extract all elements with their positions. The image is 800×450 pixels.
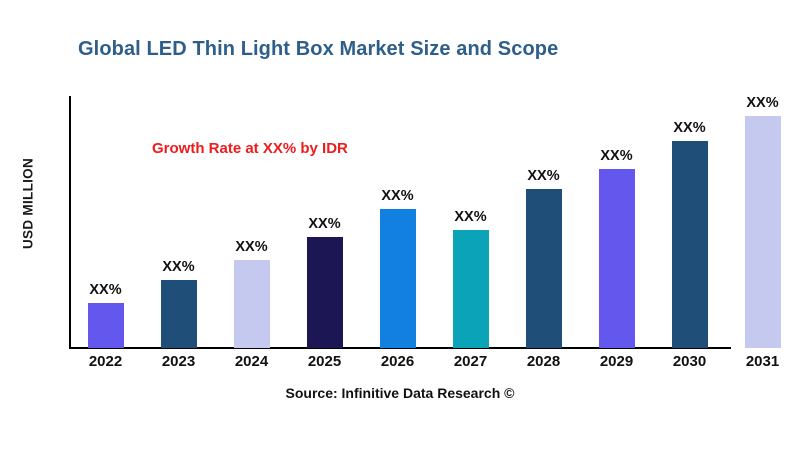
x-tick-2022: 2022 <box>69 353 142 370</box>
bar-2026[interactable] <box>380 209 416 348</box>
bar-value-label-2023: XX% <box>162 259 194 275</box>
bar-2024[interactable] <box>234 260 270 348</box>
bar-value-label-2024: XX% <box>235 239 267 255</box>
bar-2029[interactable] <box>599 169 635 348</box>
chart-title: Global LED Thin Light Box Market Size an… <box>78 38 558 61</box>
x-axis-tick-labels: 2022202320242025202620272028202920302031 <box>69 353 800 379</box>
bar-value-label-2026: XX% <box>381 188 413 204</box>
bar-group-2029[interactable]: XX% <box>580 96 653 348</box>
x-tick-2030: 2030 <box>653 353 726 370</box>
y-axis-label: USD MILLION <box>21 114 36 294</box>
bar-2031[interactable] <box>745 116 781 348</box>
x-tick-2028: 2028 <box>507 353 580 370</box>
bar-group-2022[interactable]: XX% <box>69 96 142 348</box>
bar-group-2030[interactable]: XX% <box>653 96 726 348</box>
bar-value-label-2028: XX% <box>527 168 559 184</box>
bar-2025[interactable] <box>307 237 343 348</box>
growth-rate-annotation: Growth Rate at XX% by IDR <box>152 140 348 157</box>
x-tick-2023: 2023 <box>142 353 215 370</box>
bar-2027[interactable] <box>453 230 489 348</box>
bar-group-2023[interactable]: XX% <box>142 96 215 348</box>
bar-group-2027[interactable]: XX% <box>434 96 507 348</box>
bar-value-label-2030: XX% <box>673 120 705 136</box>
x-tick-2029: 2029 <box>580 353 653 370</box>
chart-container: Global LED Thin Light Box Market Size an… <box>0 0 800 450</box>
bar-group-2028[interactable]: XX% <box>507 96 580 348</box>
bar-2028[interactable] <box>526 189 562 348</box>
bar-group-2025[interactable]: XX% <box>288 96 361 348</box>
bar-group-2031[interactable]: XX% <box>726 96 799 348</box>
x-tick-2031: 2031 <box>726 353 799 370</box>
bar-value-label-2025: XX% <box>308 216 340 232</box>
x-tick-2026: 2026 <box>361 353 434 370</box>
bar-group-2024[interactable]: XX% <box>215 96 288 348</box>
bar-2030[interactable] <box>672 141 708 348</box>
bar-value-label-2029: XX% <box>600 148 632 164</box>
source-caption: Source: Infinitive Data Research © <box>0 385 800 401</box>
x-tick-2027: 2027 <box>434 353 507 370</box>
plot-area: XX%XX%XX%XX%XX%XX%XX%XX%XX%XX% <box>69 96 800 348</box>
bar-value-label-2022: XX% <box>89 282 121 298</box>
bar-value-label-2031: XX% <box>746 95 778 111</box>
bar-2022[interactable] <box>88 303 124 348</box>
x-tick-2025: 2025 <box>288 353 361 370</box>
bar-2023[interactable] <box>161 280 197 348</box>
x-tick-2024: 2024 <box>215 353 288 370</box>
bar-group-2026[interactable]: XX% <box>361 96 434 348</box>
bar-value-label-2027: XX% <box>454 209 486 225</box>
